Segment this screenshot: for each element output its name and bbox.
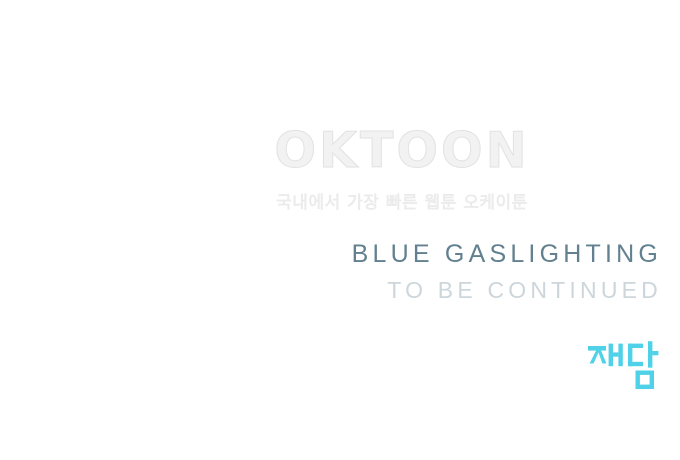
webtoon-end-card: OKTOON 국내에서 가장 빠른 웹툰 오케이툰 BLUE GASLIGHTI… [0, 0, 680, 460]
jaedam-studio-logo [586, 336, 666, 394]
oktoon-watermark: OKTOON 국내에서 가장 빠른 웹툰 오케이툰 [252, 126, 552, 212]
oktoon-tagline-text: 국내에서 가장 빠른 웹툰 오케이툰 [252, 195, 552, 212]
jaedam-logo-glyph [586, 336, 666, 394]
episode-title: BLUE GASLIGHTING [300, 240, 662, 270]
oktoon-brand-text: OKTOON [252, 126, 552, 175]
episode-title-block: BLUE GASLIGHTING TO BE CONTINUED [300, 240, 662, 304]
episode-status: TO BE CONTINUED [300, 277, 662, 304]
